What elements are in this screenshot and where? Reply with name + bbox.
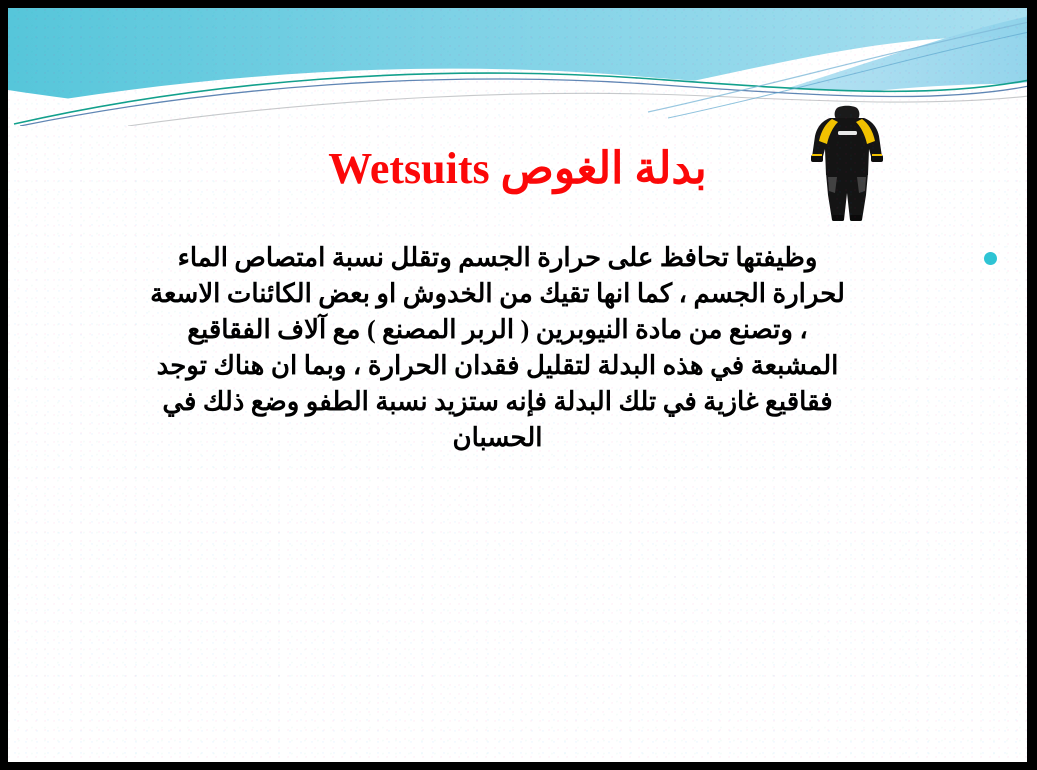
- slide-canvas: بدلة الغوص Wetsuits وظيفتها تحافظ على حر…: [8, 8, 1027, 762]
- title-row: بدلة الغوص Wetsuits: [8, 134, 1027, 204]
- body-line: الحسبان: [60, 420, 935, 456]
- page-title: بدلة الغوص Wetsuits: [328, 146, 706, 192]
- bullet-dot-icon: [984, 252, 997, 265]
- slide-frame: بدلة الغوص Wetsuits وظيفتها تحافظ على حر…: [0, 0, 1037, 770]
- body-line: لحرارة الجسم ، كما انها تقيك من الخدوش ا…: [60, 276, 935, 312]
- body-paragraph: وظيفتها تحافظ على حرارة الجسم وتقلل نسبة…: [32, 240, 963, 456]
- body-line: وظيفتها تحافظ على حرارة الجسم وتقلل نسبة…: [60, 240, 935, 276]
- list-item: وظيفتها تحافظ على حرارة الجسم وتقلل نسبة…: [32, 240, 1003, 456]
- body-line: فقاقيع غازية في تلك البدلة فإنه ستزيد نس…: [60, 384, 935, 420]
- body-bullet-list: وظيفتها تحافظ على حرارة الجسم وتقلل نسبة…: [32, 240, 1003, 456]
- body-line: ، وتصنع من مادة النيوبرين ( الربر المصنع…: [60, 312, 935, 348]
- body-line: المشبعة في هذه البدلة لتقليل فقدان الحرا…: [60, 348, 935, 384]
